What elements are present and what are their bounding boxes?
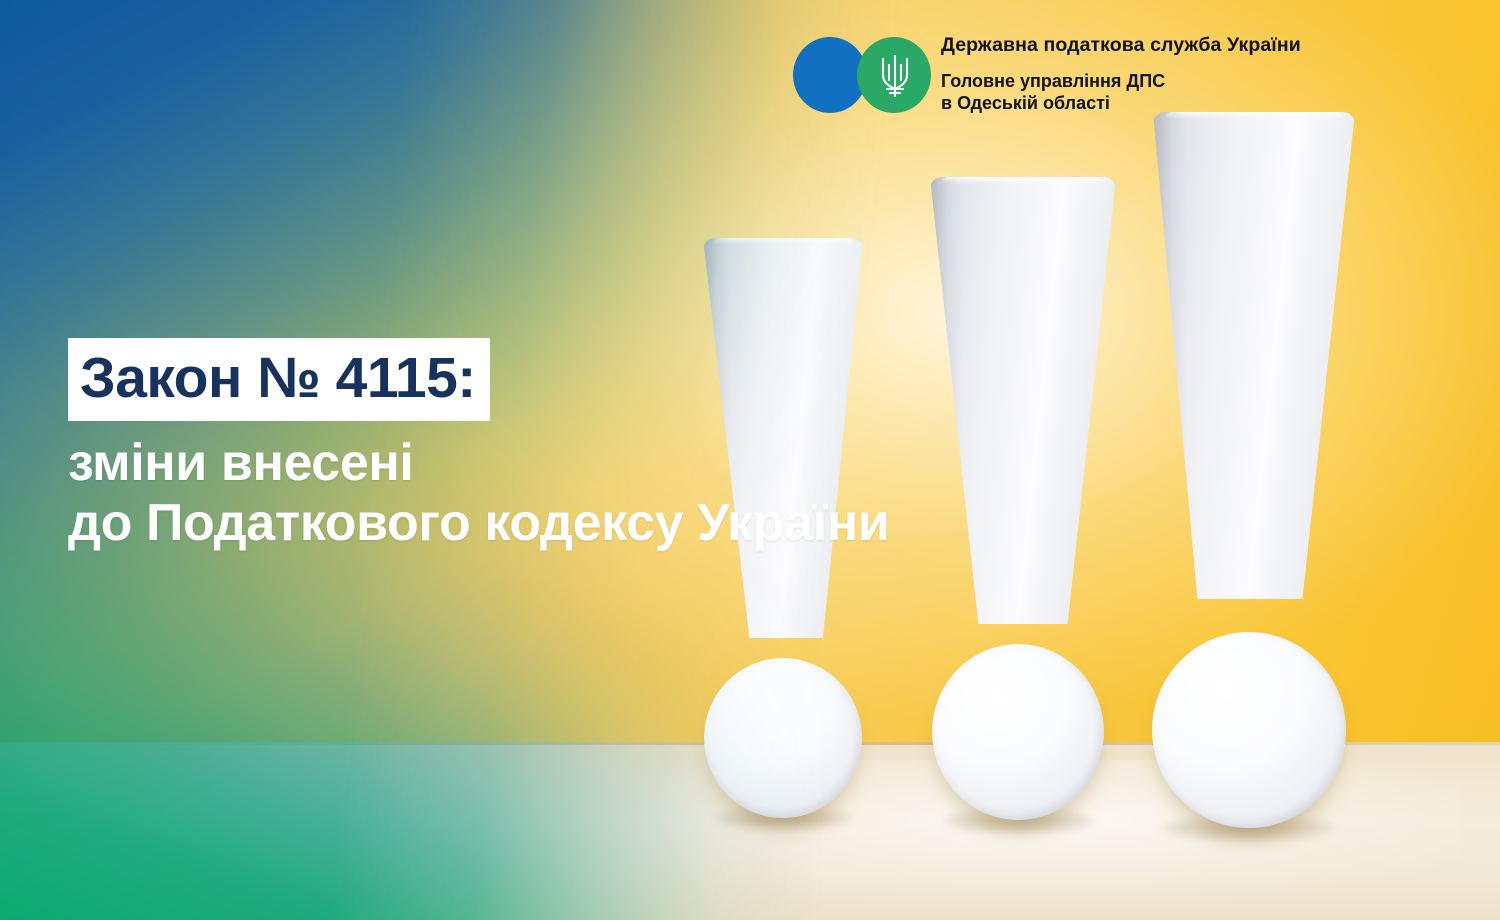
tryzub-emblem-icon [879,53,911,99]
headline-subline: зміни внесені до Податкового кодексу Укр… [68,433,1188,554]
exclamation-dot-medium [932,644,1104,820]
organisation-name: Державна податкова служба України [941,35,1301,56]
dps-logo-blue-circle [793,37,867,113]
organisation-office-line-2: в Одеській області [941,93,1301,115]
dps-logo [793,33,931,115]
headline-kicker: Закон № 4115: [68,338,490,421]
headline-block: Закон № 4115: зміни внесені до Податково… [68,338,1188,554]
headline-line-2: до Податкового кодексу України [68,493,1188,553]
exclamation-dot-large [1152,632,1346,828]
organisation-header: Державна податкова служба України Головн… [793,33,1301,115]
exclamation-dot-small [704,658,862,818]
organisation-text: Державна податкова служба України Головн… [941,33,1301,115]
headline-line-1: зміни внесені [68,434,413,492]
organisation-office-line-1: Головне управління ДПС [941,71,1301,93]
organisation-office: Головне управління ДПС в Одеській област… [941,71,1301,115]
promo-banner: Державна податкова служба України Головн… [0,0,1500,920]
